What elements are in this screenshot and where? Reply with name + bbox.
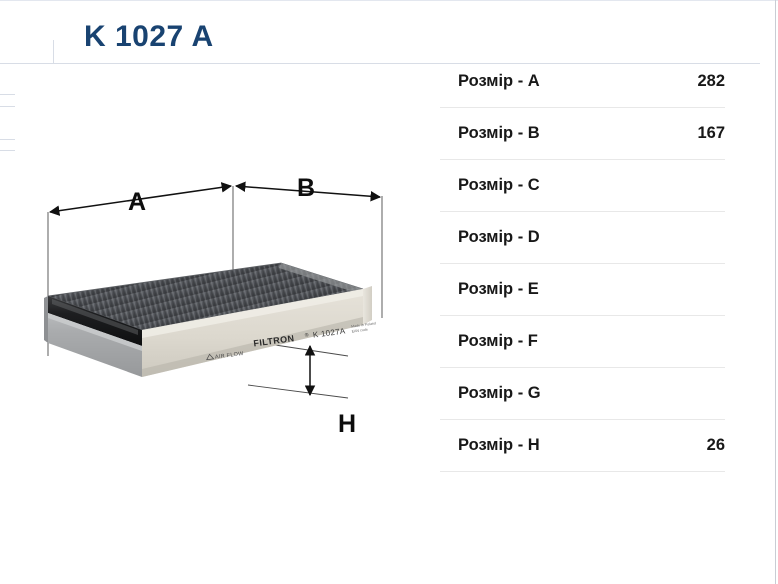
dimensions-table: Розмір - A 282 Розмір - B 167 Розмір - C… [440,56,725,472]
decorative-stub-4 [0,150,15,151]
decorative-stub-1 [0,94,15,95]
dimension-label: Розмір - D [440,228,540,247]
dimension-label: Розмір - H [440,436,540,455]
dimension-label: Розмір - G [440,384,541,403]
table-row: Розмір - C [440,160,725,212]
table-row: Розмір - H 26 [440,420,725,472]
table-row: Розмір - A 282 [440,56,725,108]
decorative-stub-3 [0,139,15,140]
page-right-border [775,0,776,584]
page-title: K 1027 A [84,20,214,54]
filter-left-endcap [44,296,48,343]
filter-right-endcap [363,286,372,325]
table-row: Розмір - B 167 [440,108,725,160]
dimension-label: Розмір - B [440,124,540,143]
dimension-letter-h: H [338,410,356,439]
decorative-stub-2 [0,106,15,107]
table-row: Розмір - G [440,368,725,420]
dimension-value: 26 [707,436,725,455]
table-row: Розмір - F [440,316,725,368]
dimension-value: 167 [697,124,725,143]
dimension-label: Розмір - E [440,280,539,299]
table-row: Розмір - D [440,212,725,264]
decorative-tick-vertical [53,40,54,64]
dimension-label: Розмір - C [440,176,540,195]
table-row: Розмір - E [440,264,725,316]
svg-text:EAN code: EAN code [352,327,369,333]
dimension-value: 282 [697,72,725,91]
dimension-label: Розмір - F [440,332,538,351]
page-top-border [0,0,778,1]
dimension-label: Розмір - A [440,72,540,91]
dimension-letter-b: B [297,174,315,203]
product-spec-page: K 1027 A Розмір - A 282 Розмір - B 167 Р… [0,0,778,584]
dimension-letter-a: A [128,188,146,217]
product-illustration: FILTRON ® K 1027A AIR FLOW Made in Polan… [0,170,430,470]
